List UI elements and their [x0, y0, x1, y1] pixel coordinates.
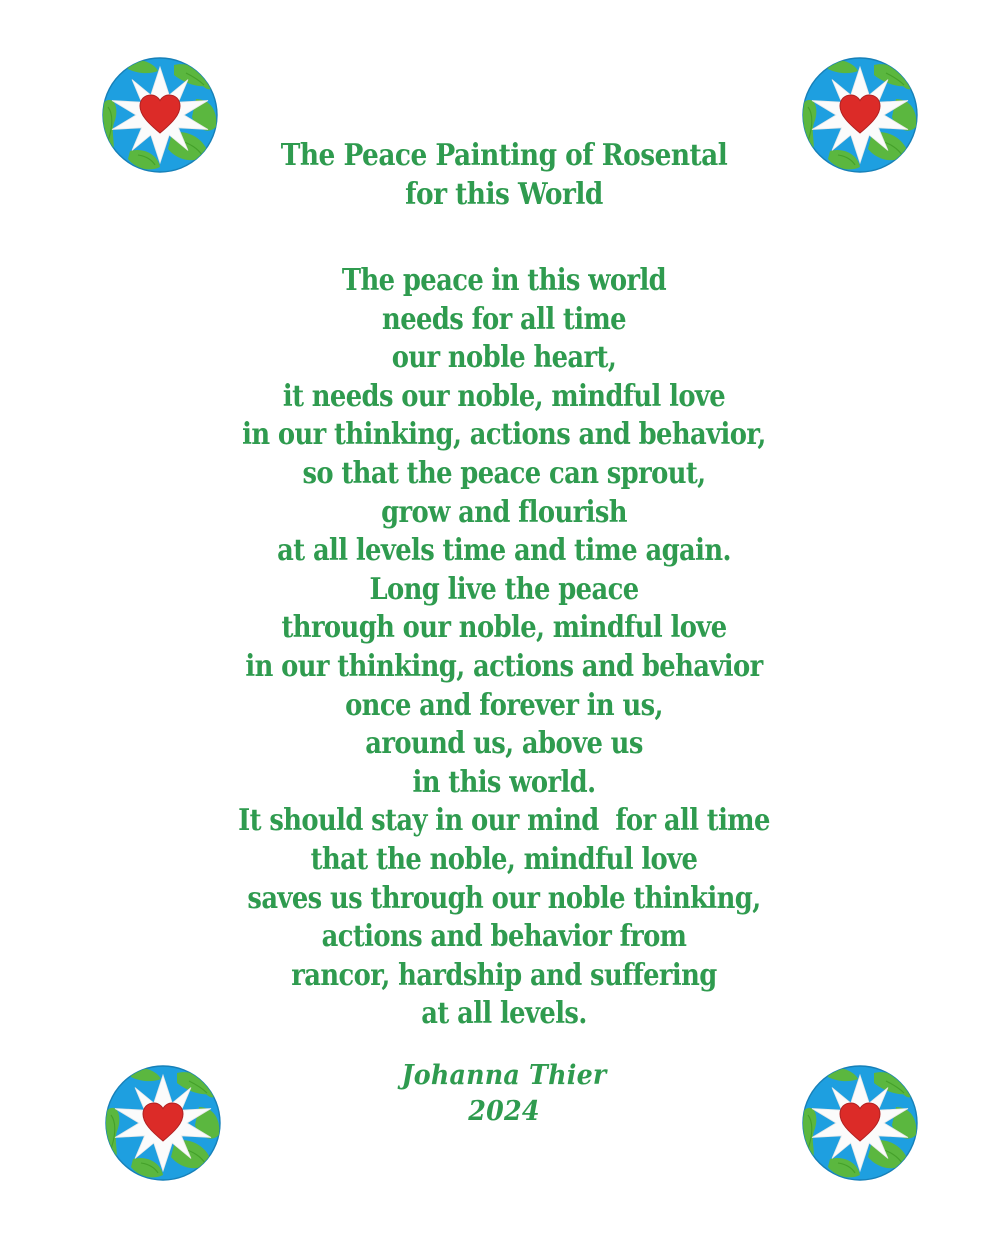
signature: Johanna Thier 2024	[0, 1058, 1008, 1130]
poem-line: rancor, hardship and suffering	[71, 957, 938, 996]
poem-line: grow and flourish	[71, 494, 938, 533]
poem-line: at all levels time and time again.	[71, 532, 938, 571]
poem-line: through our noble, mindful love	[71, 609, 938, 648]
poem-line: once and forever in us,	[71, 687, 938, 726]
poem-line: in our thinking, actions and behavior	[71, 648, 938, 687]
poster-page: The Peace Painting of Rosental for this …	[0, 0, 1008, 1260]
poem-title: The Peace Painting of Rosental for this …	[0, 136, 1008, 214]
signature-year: 2024	[30, 1094, 978, 1130]
poem-line: at all levels.	[71, 995, 938, 1034]
poem-line: in our thinking, actions and behavior,	[71, 416, 938, 455]
poem-line: needs for all time	[71, 301, 938, 340]
poem-line: It should stay in our mind for all time	[71, 802, 938, 841]
poem-line: so that the peace can sprout,	[71, 455, 938, 494]
poem-line: actions and behavior from	[71, 918, 938, 957]
poem-line: The peace in this world	[71, 262, 938, 301]
poem-line: it needs our noble, mindful love	[71, 378, 938, 417]
poem-line: saves us through our noble thinking,	[71, 880, 938, 919]
signature-author: Johanna Thier	[30, 1058, 978, 1094]
poem-line: that the noble, mindful love	[71, 841, 938, 880]
poem-line: Long live the peace	[71, 571, 938, 610]
poem-title-line-2: for this World	[60, 175, 947, 214]
poem-line: around us, above us	[71, 725, 938, 764]
poem-body: The peace in this world needs for all ti…	[0, 262, 1008, 1034]
poem-line: in this world.	[71, 764, 938, 803]
poem-title-line-1: The Peace Painting of Rosental	[60, 136, 947, 175]
poem-line: our noble heart,	[71, 339, 938, 378]
